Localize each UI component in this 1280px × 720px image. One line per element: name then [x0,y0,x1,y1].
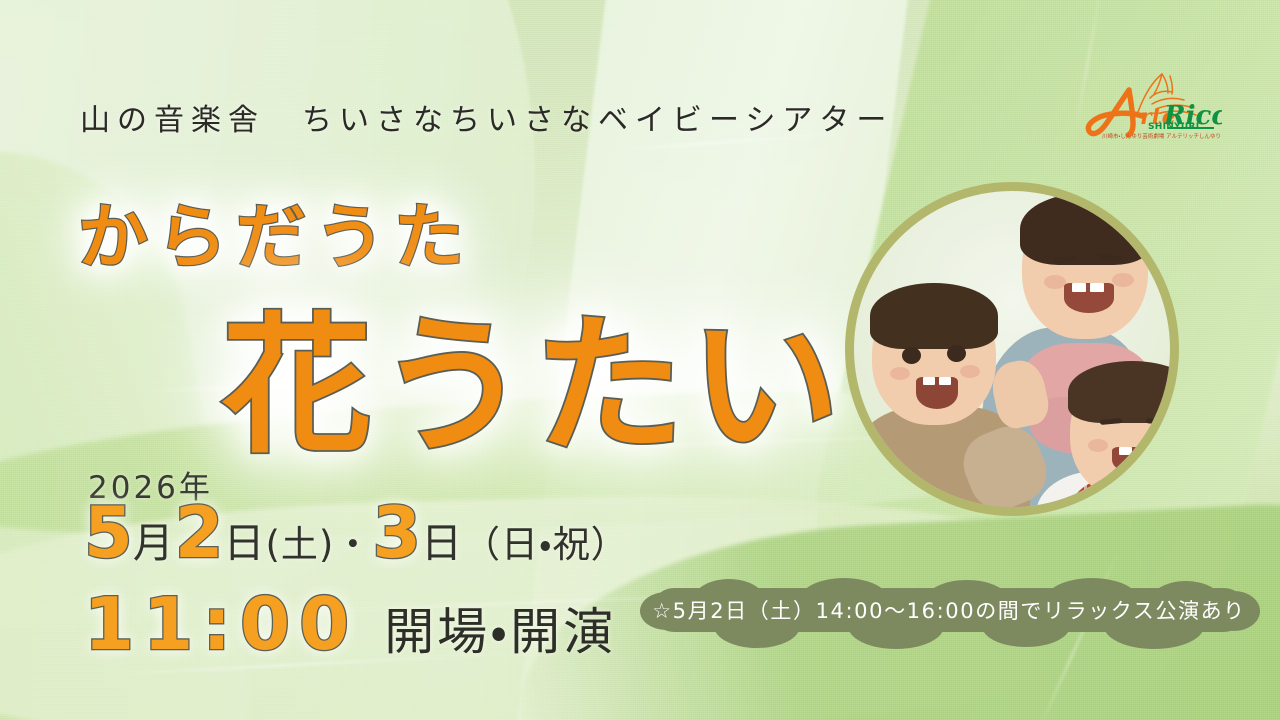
baby-hair [870,283,998,349]
logo-subtitle: SHINYURI [1148,123,1199,132]
photo-babies [854,191,1170,507]
event-date-line: 5 月 2 日 (土) ・ 3 日 （日・祝） [84,498,629,568]
photo-circle-frame [845,182,1179,516]
poster-content: 山の音楽舎 ちいさなちいさなベイビーシアター からだうた 花うたい 2026年 … [0,0,1280,720]
date-month-kanji: 月 [133,523,175,564]
baby-cheek [960,365,980,378]
baby-cheek [1044,275,1066,289]
arte-ricca-logo: rte Ricca SHINYURI 川崎市・しんゆり芸術劇場 アルテリッチしん… [1082,66,1222,148]
baby-cheek [1088,439,1108,452]
date-day2-kanji: 日 [421,523,463,564]
baby-tooth [1136,447,1149,455]
date-month-number: 5 [84,498,133,568]
baby-cheek [890,367,910,380]
baby-tooth [939,377,951,385]
baby-tooth [1072,283,1086,292]
baby-eye [902,347,921,364]
logo-japanese-caption: 川崎市・しんゆり芸術劇場 アルテリッチしんゆり [1102,135,1221,141]
time-value: 11:00 [84,588,358,660]
title-hanautai: 花うたい [222,265,846,482]
baby-tooth [923,377,935,385]
date-separator: ・ [334,526,372,563]
date-day1-weekday: (土) [265,526,334,563]
baby-cheek [1112,273,1134,287]
baby-tooth [1119,447,1132,455]
notice-text: ☆5月2日（土）14:00〜16:00の間でリラックス公演あり [652,588,1246,632]
relax-performance-notice: ☆5月2日（土）14:00〜16:00の間でリラックス公演あり [652,588,1246,632]
baby-tooth [1090,283,1104,292]
date-day2-number: 3 [372,498,421,568]
date-day2-weekday: （日・祝） [463,526,629,563]
poster-canvas: 山の音楽舎 ちいさなちいさなベイビーシアター からだうた 花うたい 2026年 … [0,0,1280,720]
baby-hair [1020,193,1152,265]
subtitle: 山の音楽舎 ちいさなちいさなベイビーシアター [80,95,893,139]
date-day1-kanji: 日 [223,523,265,564]
event-time-line: 11:00 開場・開演 [84,588,616,660]
time-label: 開場・開演 [384,607,616,657]
date-day1-number: 2 [175,498,224,568]
baby-eye [947,345,966,362]
